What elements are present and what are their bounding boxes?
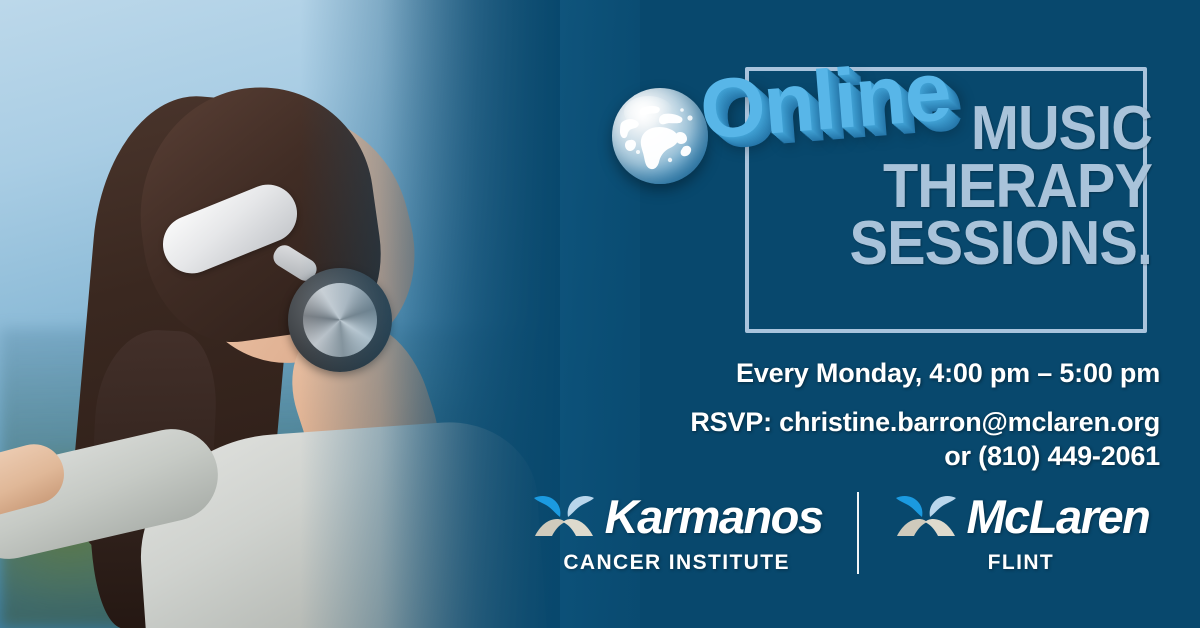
logo-divider: [857, 492, 859, 574]
rsvp-phone[interactable]: or (810) 449-2061: [600, 441, 1160, 472]
mclaren-subtitle: FLINT: [988, 551, 1054, 575]
karmanos-wordmark: Karmanos: [605, 493, 823, 540]
karmanos-subtitle: CANCER INSTITUTE: [563, 551, 790, 575]
headline-line-2: THERAPY: [787, 158, 1152, 216]
headline: MUSIC THERAPY SESSIONS.: [787, 100, 1152, 273]
mclaren-wordmark: McLaren: [967, 493, 1150, 540]
rsvp-email[interactable]: RSVP: christine.barron@mclaren.org: [600, 407, 1160, 438]
event-details: Every Monday, 4:00 pm – 5:00 pm RSVP: ch…: [600, 358, 1160, 472]
mclaren-swoosh-icon: [893, 492, 959, 542]
headline-line-1: MUSIC: [787, 100, 1152, 158]
karmanos-swoosh-icon: [531, 492, 597, 542]
poster-canvas: Online MUSIC THERAPY SESSIONS. Every Mon…: [0, 0, 1200, 628]
globe-icon: [612, 88, 708, 184]
logo-bar: Karmanos CANCER INSTITUTE McLaren FLINT: [500, 478, 1180, 588]
mclaren-logo: McLaren FLINT: [893, 492, 1150, 575]
schedule-text: Every Monday, 4:00 pm – 5:00 pm: [600, 358, 1160, 389]
headline-line-3: SESSIONS.: [787, 215, 1152, 273]
karmanos-logo: Karmanos CANCER INSTITUTE: [531, 492, 823, 575]
